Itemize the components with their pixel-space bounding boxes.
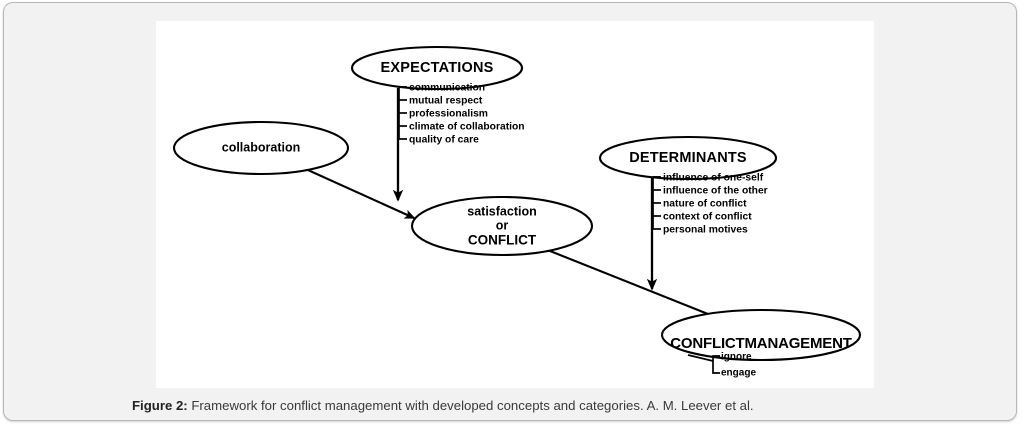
collaboration-label: collaboration [222, 140, 300, 154]
determinants-item: influence of one-self [663, 173, 764, 184]
conflict-label: CONFLICT [468, 233, 537, 248]
conflictmanagement-label: CONFLICTMANAGEMENT [670, 335, 851, 352]
determinants-item: context of conflict [663, 212, 752, 223]
expectations-label: EXPECTATIONS [380, 60, 493, 76]
determinants-item: nature of conflict [663, 199, 747, 210]
expectations-item: mutual respect [409, 96, 483, 107]
framework-diagram: collaboration EXPECTATIONS communication… [0, 0, 1025, 427]
conflictmanagement-item: engage [721, 368, 756, 379]
determinants-label: DETERMINANTS [629, 150, 747, 166]
determinants-item: influence of the other [663, 186, 768, 197]
expectations-item: communication [409, 83, 485, 94]
conflictmanagement-item: ignore [721, 352, 752, 363]
expectations-item: quality of care [409, 135, 479, 146]
satisfaction-label: satisfaction [467, 204, 536, 218]
node-satisfaction-conflict[interactable]: satisfaction or CONFLICT [412, 197, 592, 255]
expectations-item: professionalism [409, 109, 488, 120]
satisfaction-or-label: or [496, 218, 509, 232]
node-conflictmanagement[interactable]: CONFLICTMANAGEMENT [662, 310, 860, 360]
determinants-item: personal motives [663, 225, 748, 236]
conflictmanagement-category-list: ignore engage [688, 352, 756, 379]
node-collaboration[interactable]: collaboration [174, 122, 348, 174]
expectations-item: climate of collaboration [409, 122, 525, 133]
expectations-category-list: communication mutual respect professiona… [399, 83, 525, 146]
determinants-category-list: influence of one-self influence of the o… [653, 173, 768, 236]
